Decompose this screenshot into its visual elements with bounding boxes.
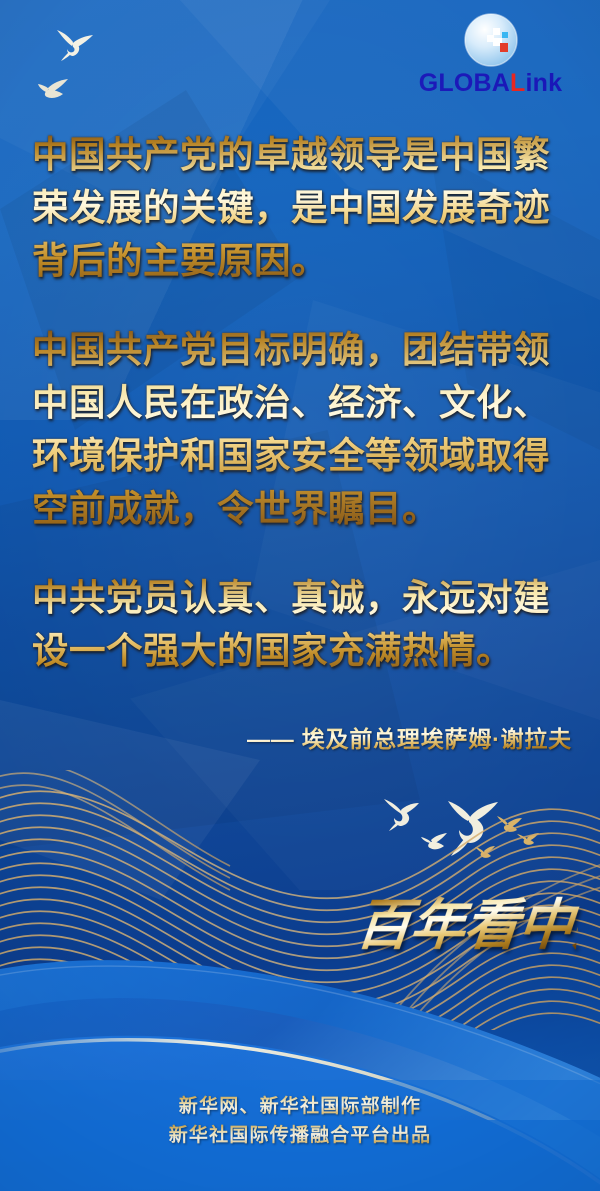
poster-canvas: GLOBALink 中国共产党的卓越领导是中国繁荣发展的关键，是中国发展奇迹背后… [0,0,600,1191]
quote-block: 中国共产党的卓越领导是中国繁荣发展的关键，是中国发展奇迹背后的主要原因。 中国共… [32,128,572,677]
quote-attribution: —— 埃及前总理埃萨姆·谢拉夫 [32,722,572,756]
footer-line-1: 新华网、新华社国际部制作 [0,1092,600,1121]
wordmark-ink: ink [526,69,563,97]
dove-icon [52,28,96,62]
dove-icon [38,78,72,100]
quote-paragraph: 中共党员认真、真诚，永远对建设一个强大的国家充满热情。 [32,571,572,677]
footer-line-2: 新华社国际传播融合平台出品 [0,1121,600,1150]
quote-paragraph: 中国共产党目标明确，团结带领中国人民在政治、经济、文化、环境保护和国家安全等领域… [32,323,572,535]
wordmark-l: L [510,69,525,97]
footer-credits: 新华网、新华社国际部制作 新华社国际传播融合平台出品 [0,1092,600,1150]
wordmark-globa: GLOBA [419,69,510,97]
quote-paragraph: 中国共产党的卓越领导是中国繁荣发展的关键，是中国发展奇迹背后的主要原因。 [32,128,572,287]
bottom-curve-bands [0,930,600,1191]
globalink-brand: GLOBALink [403,12,578,96]
globalink-wordmark: GLOBALink [403,71,578,96]
globalink-globe-icon [463,12,519,68]
